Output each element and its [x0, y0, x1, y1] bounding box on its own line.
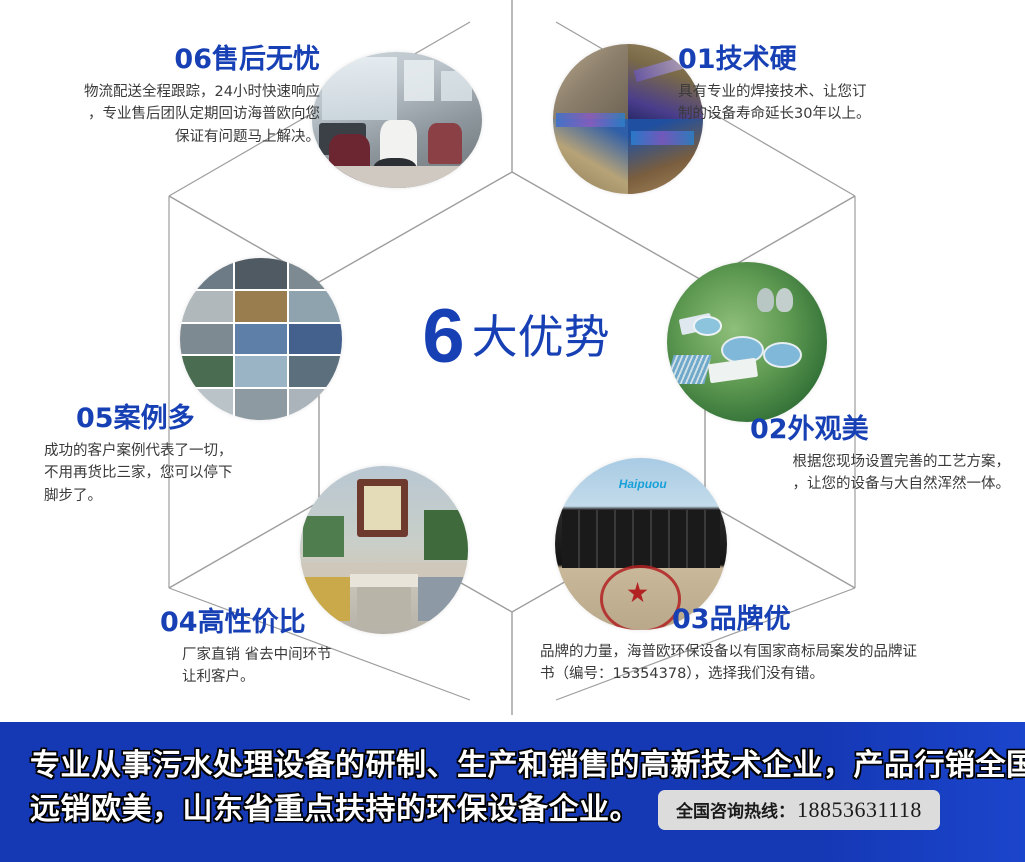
hotline-number: 18853631118: [797, 797, 922, 823]
feature-title-06: 06售后无忧: [20, 45, 320, 75]
banner-row-2: 远销欧美，山东省重点扶持的环保设备企业。 全国咨询热线： 18853631118: [30, 788, 995, 832]
feature-block-03: 03品牌优 品牌的力量，海普欧环保设备以有国家商标局案发的品牌证 书（编号：15…: [540, 605, 1010, 686]
spoke-lower-left: [169, 502, 319, 588]
feature-image-02: [667, 262, 827, 422]
feature-body-02: 根据您现场设置完善的工艺方案， ，让您的设备与大自然浑然一体。: [640, 451, 1010, 496]
feature-block-06: 06售后无忧 物流配送全程跟踪，24小时快速响应 ，专业售后团队定期回访海普欧向…: [20, 45, 320, 148]
center-title-number: 6: [422, 299, 463, 375]
feature-image-05: [180, 258, 342, 420]
feature-body-05: 成功的客户案例代表了一切， 不用再货比三家，您可以停下 脚步了。: [44, 440, 374, 507]
center-title: 6 大优势: [396, 292, 636, 382]
feature-body-03: 品牌的力量，海普欧环保设备以有国家商标局案发的品牌证 书（编号：15354378…: [540, 641, 1010, 686]
feature-block-02: 02外观美 根据您现场设置完善的工艺方案， ，让您的设备与大自然浑然一体。: [640, 415, 1010, 496]
feature-title-04: 04高性价比: [160, 608, 490, 638]
feature-title-02: 02外观美: [750, 415, 1010, 445]
bottom-banner: 专业从事污水处理设备的研制、生产和销售的高新技术企业，产品行销全国并 远销欧美，…: [0, 722, 1025, 862]
feature-image-06: [312, 52, 482, 188]
feature-block-05: 05案例多 成功的客户案例代表了一切， 不用再货比三家，您可以停下 脚步了。: [44, 404, 374, 507]
center-title-word: 大优势: [472, 314, 610, 360]
feature-title-03: 03品牌优: [672, 605, 1010, 635]
feature-body-04: 厂家直销 省去中间环节 让利客户。: [182, 644, 490, 689]
banner-line-2: 远销欧美，山东省重点扶持的环保设备企业。: [30, 788, 640, 832]
hotline-box[interactable]: 全国咨询热线： 18853631118: [658, 790, 940, 830]
feature-block-04: 04高性价比 厂家直销 省去中间环节 让利客户。: [160, 608, 490, 689]
banner-content: 专业从事污水处理设备的研制、生产和销售的高新技术企业，产品行销全国并 远销欧美，…: [30, 744, 995, 844]
hotline-label: 全国咨询热线：: [676, 797, 795, 822]
feature-block-01: 01技术硬 具有专业的焊接技术、让您订 制的设备寿命延长30年以上。: [678, 45, 1008, 126]
advantages-infographic: 6 大优势: [0, 0, 1025, 862]
feature-body-06: 物流配送全程跟踪，24小时快速响应 ，专业售后团队定期回访海普欧向您 保证有问题…: [20, 81, 320, 148]
feature-title-05: 05案例多: [76, 404, 374, 434]
feature-body-01: 具有专业的焊接技术、让您订 制的设备寿命延长30年以上。: [678, 81, 1008, 126]
feature-title-01: 01技术硬: [678, 45, 1008, 75]
spoke-lower-right: [705, 502, 855, 588]
banner-line-1: 专业从事污水处理设备的研制、生产和销售的高新技术企业，产品行销全国并: [30, 744, 995, 788]
